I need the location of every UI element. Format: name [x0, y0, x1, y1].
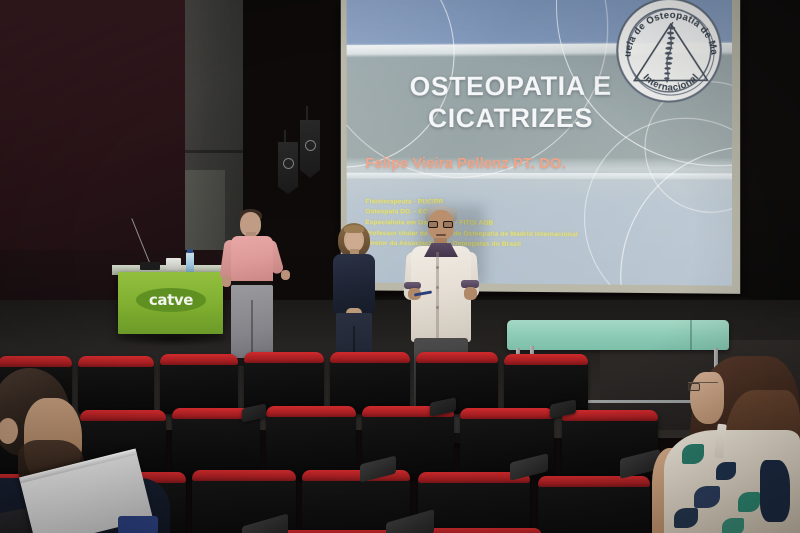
seal-bottom-label: Internacional: [642, 71, 701, 92]
left-hand: [222, 276, 231, 287]
seat[interactable]: [330, 352, 410, 414]
slide-title-line-1: OSTEOPATIA E: [362, 70, 662, 103]
face: [346, 232, 362, 250]
seat-trim: [0, 356, 72, 367]
torso-pink-shirt: [231, 236, 273, 284]
seat[interactable]: [266, 406, 356, 478]
water-bottle: [186, 252, 194, 272]
mouth: [436, 234, 446, 236]
glasses-lens: [688, 383, 700, 391]
slide-title-line-2: CICATRIZES: [362, 102, 662, 134]
podium: catve: [118, 272, 223, 334]
seat-trim: [192, 470, 296, 481]
slide-title: OSTEOPATIA E CICATRIZES: [362, 70, 662, 134]
hair-fringe: [344, 225, 364, 233]
shirt-placket: [436, 252, 439, 338]
seat-trim: [460, 408, 554, 419]
paper-cup: [166, 258, 181, 270]
seat-trim: [244, 352, 324, 363]
floral-motif: [682, 444, 704, 464]
floral-motif: [722, 518, 744, 533]
projected-slide: OSTEOPATIA E CICATRIZES Felipe Vieira Pe…: [347, 0, 732, 286]
podium-equipment: [140, 262, 160, 270]
svg-text:Internacional: Internacional: [642, 71, 701, 92]
torso-floral-top: [664, 430, 800, 533]
seat-trim: [78, 356, 154, 367]
eom-logo-seal: Escuela de Osteopatía de Madrid Internac…: [617, 0, 723, 103]
seat-trim: [504, 354, 588, 365]
seat[interactable]: [538, 476, 650, 533]
catve-logo-text: catve: [149, 291, 193, 309]
seat-trim: [330, 352, 410, 363]
projection-screen-frame: OSTEOPATIA E CICATRIZES Felipe Vieira Pe…: [341, 0, 740, 294]
right-hand: [281, 270, 290, 280]
seat[interactable]: [416, 352, 498, 414]
shirt-button: [436, 266, 439, 269]
auditorium-scene: OSTEOPATIA E CICATRIZES Felipe Vieira Pe…: [0, 0, 800, 533]
seat-trim: [538, 476, 650, 487]
seat[interactable]: [160, 354, 238, 414]
seat-trim: [562, 410, 658, 421]
flag-1-emblem: [283, 158, 294, 169]
floral-motif: [760, 460, 790, 522]
floral-motif: [738, 492, 760, 512]
face-profile: [690, 372, 724, 424]
seat-trim: [416, 352, 498, 363]
seat[interactable]: [78, 356, 154, 414]
glasses-right-lens: [443, 221, 453, 228]
therapy-table-top: [507, 320, 729, 350]
seat-trim: [160, 354, 238, 365]
therapy-table-seam: [690, 320, 692, 350]
seat-trim: [80, 410, 166, 421]
slide-credentials-list: Fisioterapeuta - PUC/PR Osteopata DO. - …: [365, 197, 716, 252]
water-bottle-cap: [187, 249, 193, 253]
pillar-seam: [185, 150, 243, 153]
seat-trim: [266, 406, 356, 417]
flag-2-emblem: [305, 140, 316, 151]
right-hand: [464, 287, 477, 300]
torso-navy-jacket: [333, 254, 375, 314]
glasses-icon: [688, 382, 718, 390]
glasses-left-lens: [428, 221, 438, 228]
shirt-button: [436, 286, 439, 289]
floral-motif: [716, 462, 736, 480]
floral-motif: [694, 486, 720, 508]
catve-logo: catve: [136, 288, 206, 312]
seat[interactable]: [418, 472, 530, 533]
glasses-icon: [428, 221, 454, 228]
seal-text-bottom: Internacional: [619, 0, 725, 105]
blue-object: [118, 516, 158, 533]
floral-motif: [674, 508, 698, 528]
podium-shadow: [112, 332, 232, 346]
slide-author: Felipe Vieira Pellenz PT. DO.: [365, 156, 692, 172]
shirt-button: [436, 306, 439, 309]
